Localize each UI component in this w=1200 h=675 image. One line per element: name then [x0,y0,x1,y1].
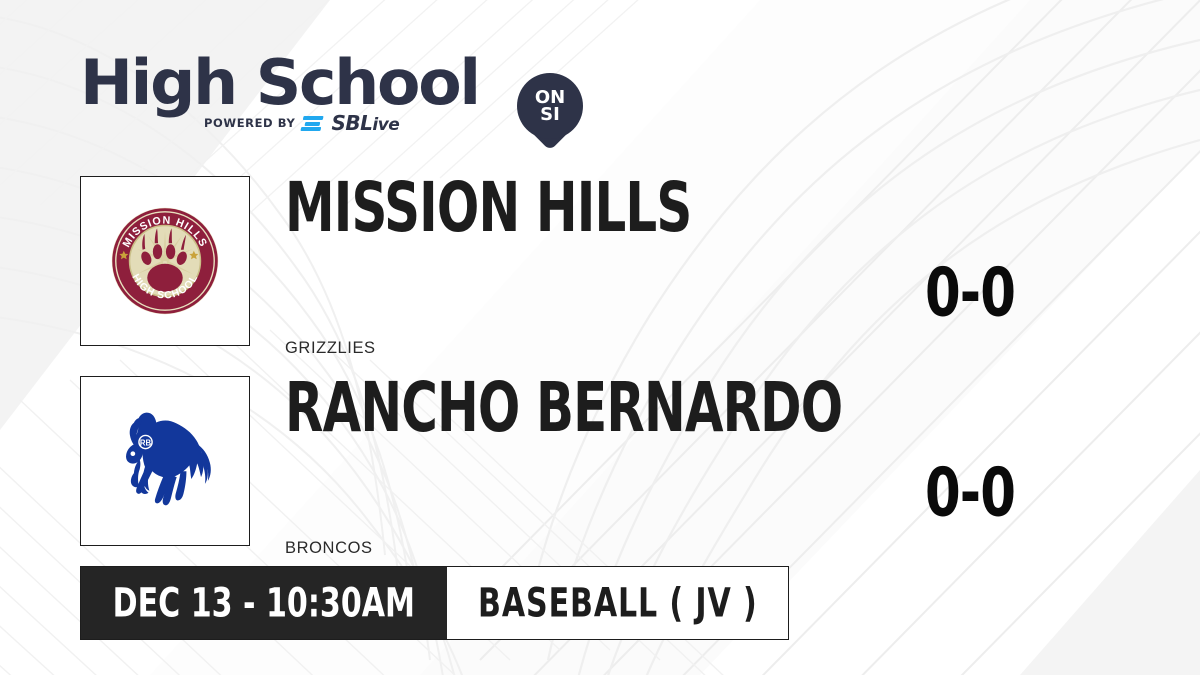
svg-text:RB: RB [140,438,152,447]
onsi-badge-line-2: SI [540,106,560,123]
sblive-s-mark-icon [301,115,327,132]
powered-by-label: POWERED BY [204,116,295,130]
onsi-pin-icon: ON SI [517,73,583,151]
mission-hills-seal-icon: MISSION HILLS HIGH SCHOOL [109,205,221,317]
team-record-primary: 0-0 [896,260,1043,327]
powered-by-lockup: POWERED BY SBLive [204,111,399,135]
team-name-primary: MISSION HILLS [285,174,691,243]
sblive-wordmark: SBLive [331,111,399,135]
team-logo-box-rancho-bernardo: RB [80,376,250,546]
event-datetime: DEC 13 - 10:30AM [81,567,447,639]
brand-wordmark: High School [80,52,479,114]
brand-lockup: High School ON SI POWERED BY SBLive [80,32,510,138]
team-record-secondary: 0-0 [896,460,1043,527]
rancho-bernardo-bronco-icon: RB [106,405,224,517]
team-mascot-primary: GRIZZLIES [285,339,376,358]
team-name-secondary: RANCHO BERNARDO [285,374,842,443]
team-logo-box-mission-hills: MISSION HILLS HIGH SCHOOL [80,176,250,346]
team-mascot-secondary: BRONCOS [285,539,373,558]
event-sport: BASEBALL ( JV ) [447,567,788,639]
event-info-bar: DEC 13 - 10:30AM BASEBALL ( JV ) [80,566,789,640]
